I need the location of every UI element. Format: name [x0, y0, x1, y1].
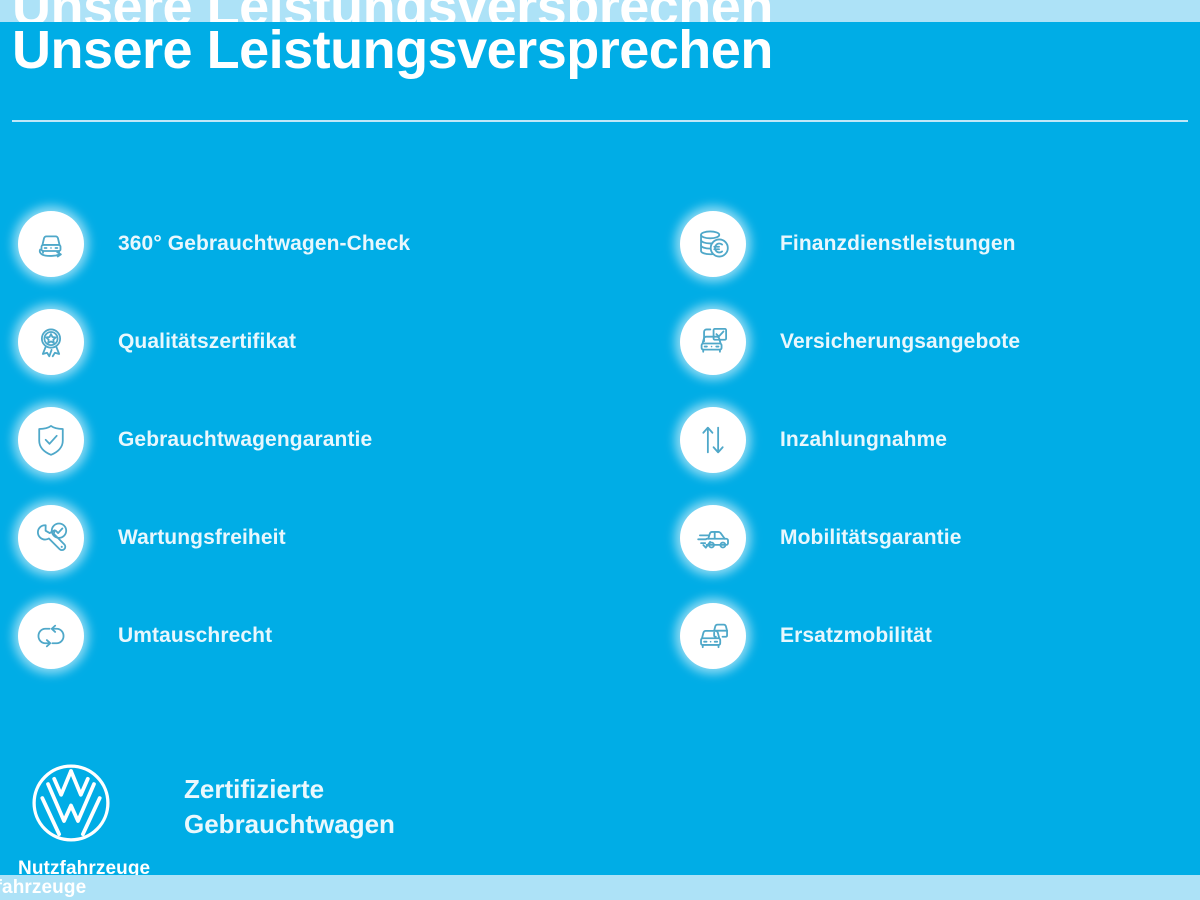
promise-item-mobilitaetsgarantie[interactable]: Mobilitätsgarantie [680, 489, 1190, 587]
promise-label: Wartungsfreiheit [118, 526, 286, 550]
promise-column-left: 360° Gebrauchtwagen-Check Qualitätszerti… [18, 195, 618, 685]
car-speed-check-icon [680, 505, 746, 571]
award-rosette-icon [18, 309, 84, 375]
ghost-title-text: Unsere Leistungsversprechen [12, 0, 773, 22]
arrows-up-down-icon [680, 407, 746, 473]
brand-claim: Zertifizierte Gebrauchtwagen [184, 772, 395, 841]
promise-item-ersatzmobilitaet[interactable]: Ersatzmobilität [680, 587, 1190, 685]
car-document-check-icon [680, 309, 746, 375]
top-artifact-band: Unsere Leistungsversprechen [0, 0, 1200, 22]
promise-label: Finanzdienstleistungen [780, 232, 1016, 256]
promise-item-gebrauchtwagen-check[interactable]: 360° Gebrauchtwagen-Check [18, 195, 618, 293]
promise-column-right: Finanzdienstleistungen Versicheru [680, 195, 1190, 685]
promise-item-qualitaetszertifikat[interactable]: Qualitätszertifikat [18, 293, 618, 391]
promise-label: Mobilitätsgarantie [780, 526, 962, 550]
promise-label: Inzahlungnahme [780, 428, 947, 452]
promise-item-wartungsfreiheit[interactable]: Wartungsfreiheit [18, 489, 618, 587]
car-360-check-icon [18, 211, 84, 277]
coins-euro-icon [680, 211, 746, 277]
promise-label: 360° Gebrauchtwagen-Check [118, 232, 410, 256]
title-divider [12, 120, 1188, 122]
shield-check-icon [18, 407, 84, 473]
two-cars-icon [680, 603, 746, 669]
promise-label: Qualitätszertifikat [118, 330, 296, 354]
volkswagen-logo [30, 762, 112, 844]
exchange-arrows-icon [18, 603, 84, 669]
promise-label: Umtauschrecht [118, 624, 272, 648]
promise-item-umtauschrecht[interactable]: Umtauschrecht [18, 587, 618, 685]
promise-item-finanzdienstleistungen[interactable]: Finanzdienstleistungen [680, 195, 1190, 293]
brand-claim-line-1: Zertifizierte [184, 772, 395, 807]
page-title: Unsere Leistungsversprechen [12, 22, 773, 79]
promise-item-inzahlungnahme[interactable]: Inzahlungnahme [680, 391, 1190, 489]
promise-item-versicherungsangebote[interactable]: Versicherungsangebote [680, 293, 1190, 391]
promise-label: Ersatzmobilität [780, 624, 932, 648]
bottom-artifact-band: zfahrzeuge [0, 875, 1200, 900]
wrench-check-icon [18, 505, 84, 571]
brand-claim-line-2: Gebrauchtwagen [184, 807, 395, 842]
promise-label: Versicherungsangebote [780, 330, 1020, 354]
promise-item-gebrauchtwagengarantie[interactable]: Gebrauchtwagengarantie [18, 391, 618, 489]
promise-slide: Unsere Leistungsversprechen Unsere Leist… [0, 0, 1200, 900]
promise-label: Gebrauchtwagengarantie [118, 428, 372, 452]
ghost-subline-text: zfahrzeuge [0, 875, 86, 900]
